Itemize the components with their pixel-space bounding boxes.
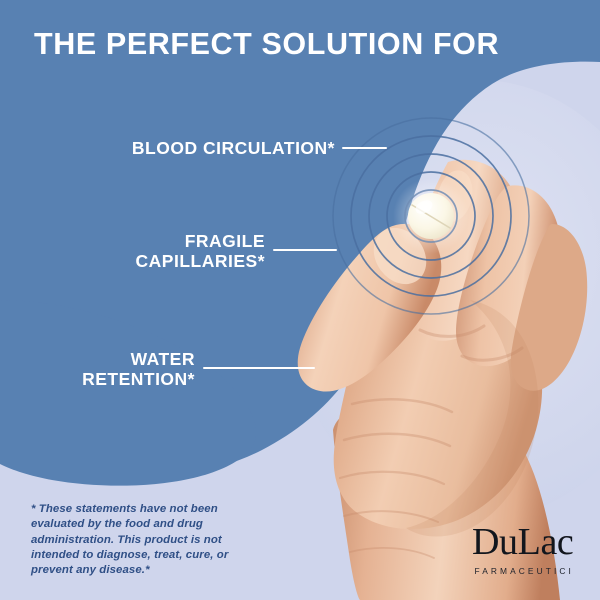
leader-line-blood-circulation [342,147,387,149]
page-title: THE PERFECT SOLUTION FOR [34,28,554,60]
brand-tagline: FARMACEUTICI [471,566,574,576]
callout-water-retention: WATER RETENTION* [40,350,195,389]
brand-logo: DuLac FARMACEUTICI [471,524,574,576]
poster-canvas: THE PERFECT SOLUTION FOR BLOOD CIRCULATI… [0,0,600,600]
brand-wordmark: DuLac [471,524,574,561]
callout-line: BLOOD CIRCULATION* [60,139,335,159]
pill-tablet [393,178,469,254]
callout-line: WATER [40,350,195,370]
callout-line: RETENTION* [40,370,195,390]
leader-line-water-retention [203,367,315,369]
disclaimer-text: * These statements have not been evaluat… [31,502,271,578]
leader-line-fragile-capillaries [273,249,337,251]
callout-fragile-capillaries: FRAGILE CAPILLARIES* [60,232,265,271]
callout-line: FRAGILE [60,232,265,252]
callout-blood-circulation: BLOOD CIRCULATION* [60,139,335,159]
callout-line: CAPILLARIES* [60,252,265,272]
